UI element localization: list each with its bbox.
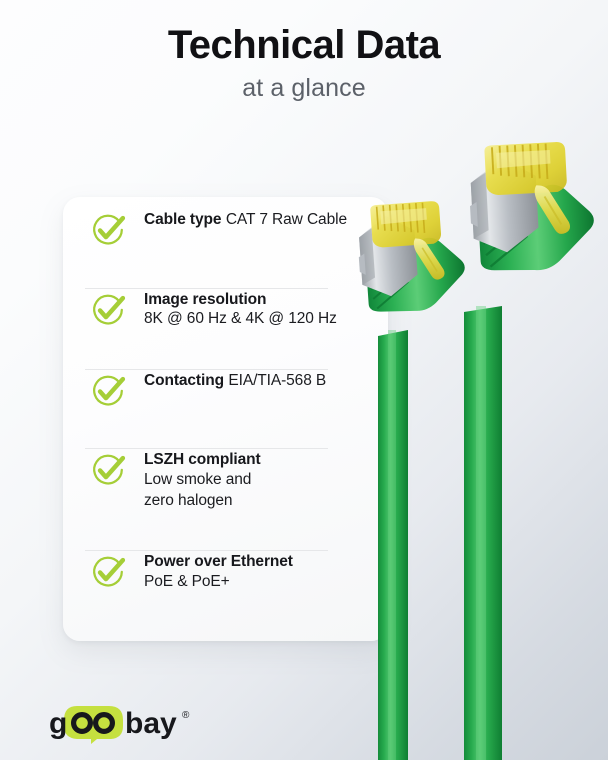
- spec-value: CAT 7 Raw Cable: [226, 211, 347, 228]
- goobay-logo: g bay ®: [47, 702, 197, 744]
- spec-label: Power over Ethernet: [144, 553, 293, 570]
- spec-value: EIA/TIA-568 B: [228, 372, 326, 389]
- check-circle-icon: [89, 211, 127, 249]
- page-title: Technical Data: [0, 24, 608, 67]
- spec-item-contacting: Contacting EIA/TIA-568 B: [63, 370, 388, 449]
- check-circle-icon: [89, 372, 127, 410]
- spec-item-image-resolution: Image resolution 8K @ 60 Hz & 4K @ 120 H…: [63, 289, 388, 369]
- rj45-connector-front: [467, 140, 596, 273]
- spec-item-lszh-compliant: LSZH compliant Low smoke and zero haloge…: [63, 449, 388, 550]
- check-circle-icon: [89, 553, 127, 591]
- spec-label: LSZH compliant: [144, 451, 261, 468]
- spec-value-line2: zero halogen: [144, 491, 372, 512]
- spec-item-power-over-ethernet: Power over Ethernet PoE & PoE+: [63, 551, 388, 631]
- header: Technical Data at a glance: [0, 24, 608, 103]
- spec-label: Contacting: [144, 372, 224, 389]
- spec-value: 8K @ 60 Hz & 4K @ 120 Hz: [144, 310, 337, 327]
- check-circle-icon: [89, 451, 127, 489]
- spec-card: Cable type CAT 7 Raw Cable: [63, 197, 388, 641]
- logo-text-before: g: [49, 707, 67, 740]
- registered-trademark-icon: ®: [182, 710, 190, 721]
- spec-value: PoE & PoE+: [144, 573, 230, 590]
- spec-list: Cable type CAT 7 Raw Cable: [63, 209, 388, 631]
- spec-label: Image resolution: [144, 291, 266, 308]
- spec-value: Low smoke and zero halogen: [144, 471, 372, 511]
- spec-item-cable-type: Cable type CAT 7 Raw Cable: [63, 209, 388, 288]
- page-subtitle: at a glance: [0, 75, 608, 103]
- infographic-canvas: Technical Data at a glance Cable type: [0, 0, 608, 760]
- check-circle-icon: [89, 291, 127, 329]
- logo-text-after: bay: [125, 707, 177, 740]
- spec-label: Cable type: [144, 211, 221, 228]
